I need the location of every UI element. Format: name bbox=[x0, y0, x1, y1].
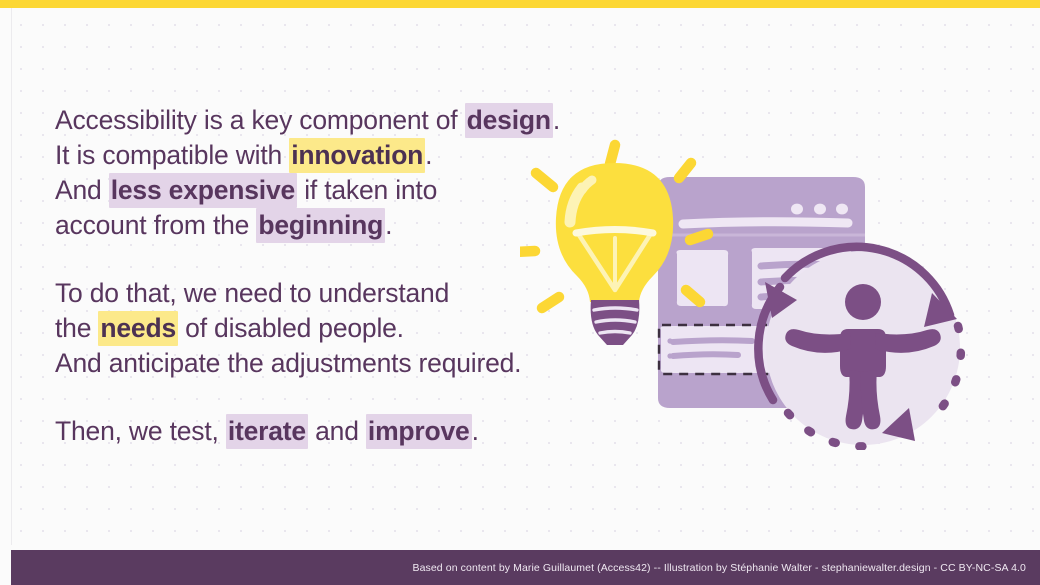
accessibility-cycle-badge bbox=[758, 247, 961, 447]
browser-dots bbox=[791, 204, 848, 215]
text-line: the needs of disabled people. bbox=[55, 311, 595, 346]
text-line: And less expensive if taken into bbox=[55, 173, 595, 208]
slide-body-text: Accessibility is a key component of desi… bbox=[55, 103, 595, 449]
lightbulb-base bbox=[591, 300, 640, 345]
text-run: It is compatible with bbox=[55, 140, 289, 170]
text-line: And anticipate the adjustments required. bbox=[55, 346, 595, 381]
slide-canvas: Accessibility is a key component of desi… bbox=[0, 0, 1040, 585]
text-line: Accessibility is a key component of desi… bbox=[55, 103, 595, 138]
text-run: if taken into bbox=[297, 175, 437, 205]
text-run: . bbox=[425, 140, 432, 170]
text-line: It is compatible with innovation. bbox=[55, 138, 595, 173]
paragraph-3: Then, we test, iterate and improve. bbox=[55, 414, 595, 449]
credit-text: Based on content by Marie Guillaumet (Ac… bbox=[412, 562, 1026, 574]
text-run: And anticipate the adjustments required. bbox=[55, 348, 521, 378]
text-run: the bbox=[55, 313, 98, 343]
highlight-lavender: less expensive bbox=[109, 173, 297, 208]
text-line: account from the beginning. bbox=[55, 208, 595, 243]
text-run: . bbox=[472, 416, 479, 446]
text-run: and bbox=[308, 416, 366, 446]
text-run: of disabled people. bbox=[178, 313, 404, 343]
text-run: Accessibility is a key component of bbox=[55, 105, 465, 135]
illustration-container bbox=[520, 130, 990, 450]
highlight-yellow: needs bbox=[98, 311, 178, 346]
highlight-lavender: beginning bbox=[256, 208, 385, 243]
text-run: And bbox=[55, 175, 109, 205]
paragraph-2: To do that, we need to understandthe nee… bbox=[55, 276, 595, 381]
credit-bar: Based on content by Marie Guillaumet (Ac… bbox=[11, 550, 1040, 585]
text-run: Then, we test, bbox=[55, 416, 226, 446]
text-line: Then, we test, iterate and improve. bbox=[55, 414, 595, 449]
paragraph-1: Accessibility is a key component of desi… bbox=[55, 103, 595, 243]
text-run: account from the bbox=[55, 210, 256, 240]
browser-url-bar bbox=[683, 222, 848, 224]
text-run: To do that, we need to understand bbox=[55, 278, 449, 308]
highlight-yellow: innovation bbox=[289, 138, 425, 173]
top-accent-bar bbox=[0, 0, 1040, 8]
left-hairline-divider bbox=[11, 8, 12, 545]
highlight-lavender: iterate bbox=[226, 414, 308, 449]
text-run: . bbox=[385, 210, 392, 240]
text-line: To do that, we need to understand bbox=[55, 276, 595, 311]
highlight-lavender: improve bbox=[366, 414, 472, 449]
lightbulb-icon bbox=[556, 163, 673, 302]
